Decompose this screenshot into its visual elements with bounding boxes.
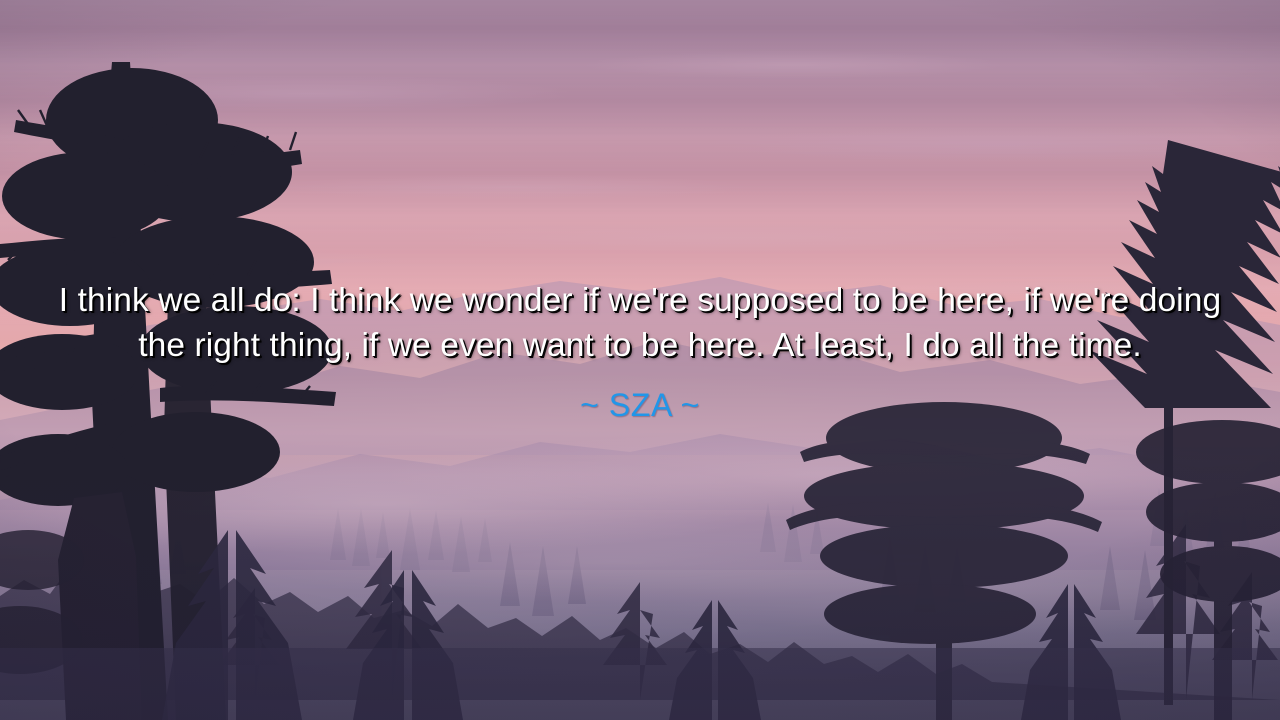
wallpaper-quote-image: I think we all do: I think we wonder if …	[0, 0, 1280, 720]
quote-text: I think we all do: I think we wonder if …	[56, 278, 1224, 368]
quote-overlay: I think we all do: I think we wonder if …	[0, 278, 1280, 424]
quote-attribution: ~ SZA ~	[56, 386, 1224, 424]
